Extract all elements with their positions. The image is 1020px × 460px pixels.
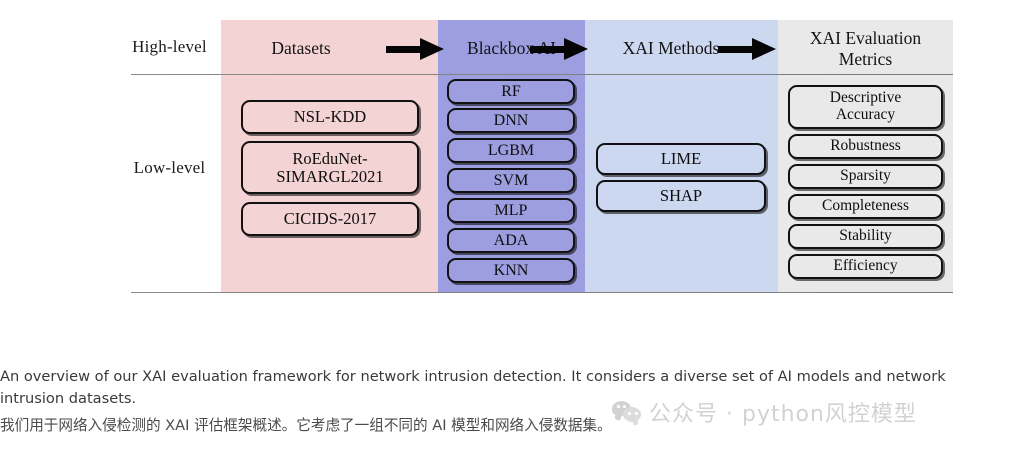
arrow-right-icon-blackbox-to-xai: [530, 38, 588, 60]
node-dataset-nsl-kdd: NSL-KDD: [241, 100, 419, 134]
column-header-metrics-line2: Metrics: [778, 49, 953, 70]
node-metric-efficiency: Efficiency: [788, 254, 943, 279]
caption-chinese: 我们用于网络入侵检测的 XAI 评估框架概述。它考虑了一组不同的 AI 模型和网…: [0, 415, 1020, 437]
column-header-datasets: Datasets: [221, 38, 381, 59]
node-model-svm: SVM: [447, 168, 575, 193]
node-metric-descriptive-accuracy: Descriptive Accuracy: [788, 85, 943, 129]
caption-english: An overview of our XAI evaluation framew…: [0, 366, 1014, 410]
node-label-line2: SIMARGL2021: [276, 168, 383, 186]
node-metric-sparsity: Sparsity: [788, 164, 943, 189]
node-metric-completeness: Completeness: [788, 194, 943, 219]
node-model-rf: RF: [447, 79, 575, 104]
figure-caption: An overview of our XAI evaluation framew…: [0, 366, 1020, 437]
arrow-head: [752, 38, 776, 60]
node-metric-robustness: Robustness: [788, 134, 943, 159]
arrow-right-icon-xai-to-metrics: [718, 38, 776, 60]
node-dataset-roedunet-simargl2021: RoEduNet- SIMARGL2021: [241, 141, 419, 194]
arrow-shaft: [530, 46, 568, 53]
arrow-head: [564, 38, 588, 60]
node-label-line1: Descriptive: [830, 90, 901, 107]
column-header-metrics-line1: XAI Evaluation: [778, 28, 953, 49]
column-header-xai-evaluation-metrics: XAI Evaluation Metrics: [778, 28, 953, 69]
arrow-shaft: [386, 46, 424, 53]
node-model-knn: KNN: [447, 258, 575, 283]
row-label-high-level: High-level: [118, 37, 221, 57]
node-model-ada: ADA: [447, 228, 575, 253]
node-label-line1: RoEduNet-: [292, 150, 367, 168]
framework-diagram: High-level Low-level Datasets Blackbox A…: [0, 0, 1020, 310]
arrow-head: [420, 38, 444, 60]
node-metric-stability: Stability: [788, 224, 943, 249]
node-model-lgbm: LGBM: [447, 138, 575, 163]
node-dataset-cicids-2017: CICIDS-2017: [241, 202, 419, 236]
arrow-right-icon-datasets-to-blackbox: [386, 38, 444, 60]
node-model-dnn: DNN: [447, 108, 575, 133]
divider-bottom: [131, 292, 953, 293]
arrow-shaft: [718, 46, 756, 53]
node-xai-method-lime: LIME: [596, 143, 766, 175]
divider-high-low: [131, 74, 953, 75]
node-xai-method-shap: SHAP: [596, 180, 766, 212]
row-label-low-level: Low-level: [118, 158, 221, 178]
node-model-mlp: MLP: [447, 198, 575, 223]
node-label-line2: Accuracy: [836, 107, 895, 124]
